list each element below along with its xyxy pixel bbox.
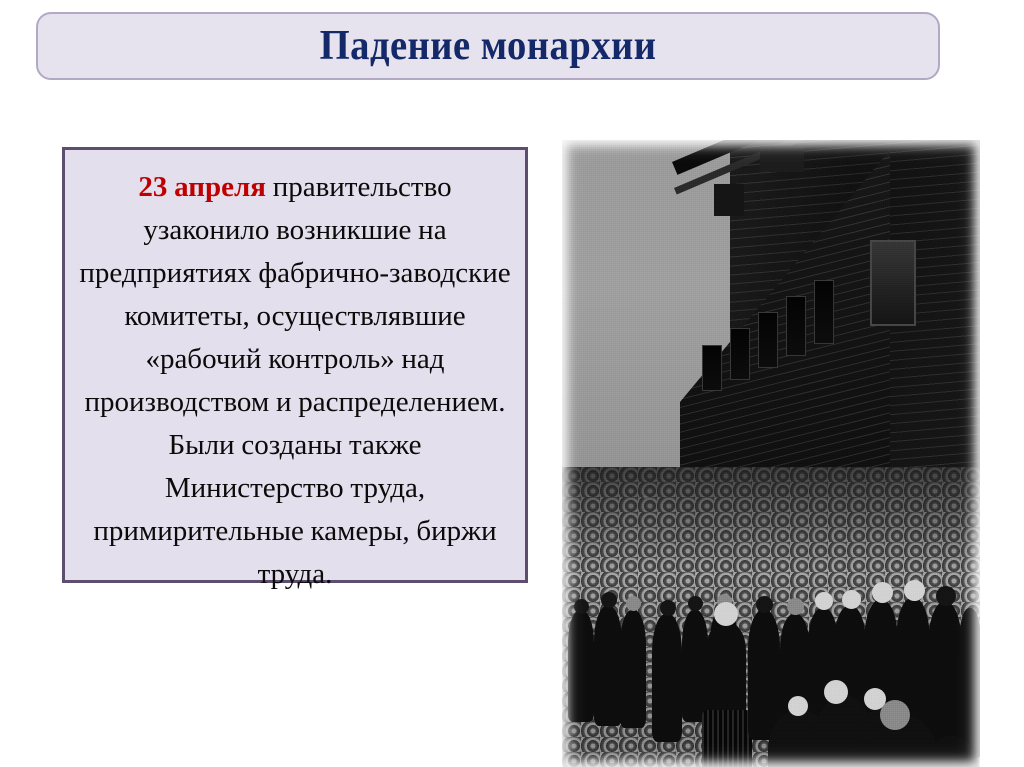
historical-photograph — [562, 140, 980, 767]
title-banner: Падение монархии — [36, 12, 940, 80]
body-text: правительство узаконило возникшие на пре… — [79, 171, 510, 590]
photo-film-grain — [562, 140, 980, 767]
body-paragraph: 23 апреля правительство узаконило возник… — [65, 150, 525, 596]
accent-date-label: 23 апреля — [138, 171, 266, 203]
page-title: Падение монархии — [320, 25, 657, 67]
content-text-panel: 23 апреля правительство узаконило возник… — [62, 147, 528, 583]
slide-root: { "slide": { "background_color": "#fffff… — [0, 0, 1024, 767]
